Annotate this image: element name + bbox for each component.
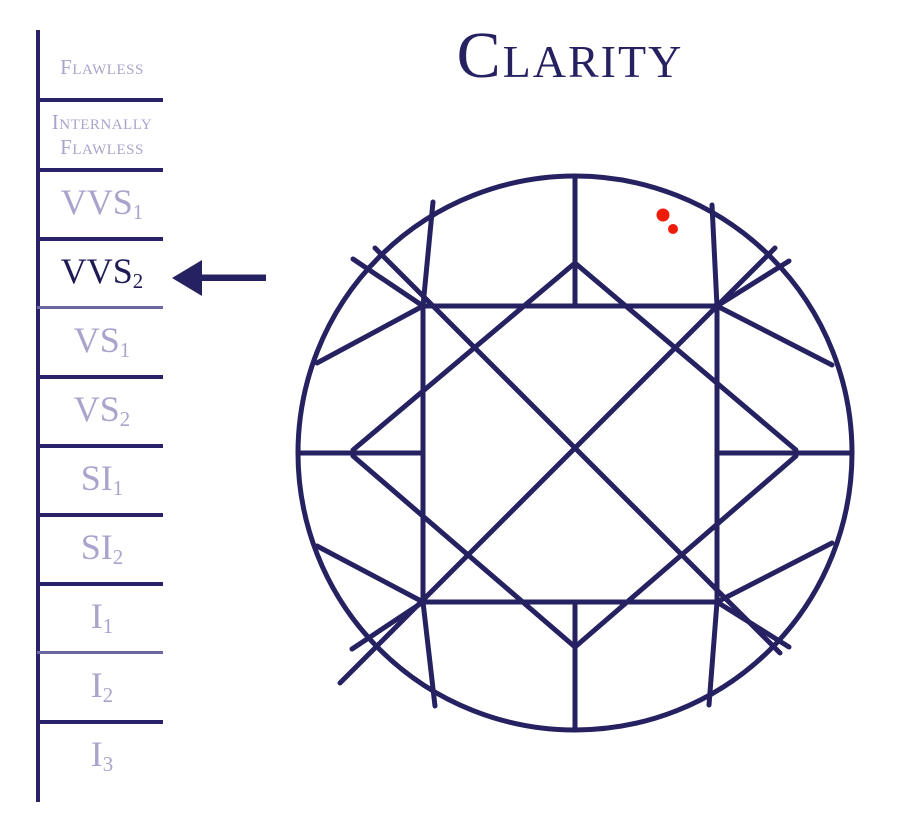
grade-label: Flawless — [60, 55, 144, 79]
grade-row-fl[interactable]: Flawless — [37, 55, 167, 80]
grade-row-vs2[interactable]: VS2 — [37, 389, 167, 434]
grade-label: VVS — [61, 182, 133, 222]
star-edge-ne-b — [712, 205, 717, 306]
grade-row-i3[interactable]: I3 — [37, 734, 167, 779]
grade-label-subscript: 2 — [113, 545, 123, 569]
grade-label-subscript: 3 — [103, 752, 113, 776]
selection-arrow-icon — [168, 252, 278, 304]
upper-girdle-w-bottom — [317, 546, 423, 602]
inclusion-markers — [657, 209, 679, 235]
grade-row-if[interactable]: InternallyFlawless — [37, 110, 167, 160]
grade-label: SI — [81, 527, 113, 567]
grade-label: VS — [74, 320, 120, 360]
star-edge-se-a — [717, 602, 789, 647]
grade-label: SI — [81, 458, 113, 498]
grade-row-si2[interactable]: SI2 — [37, 527, 167, 572]
diamond-facet-lines — [298, 176, 852, 730]
grade-row-vs1[interactable]: VS1 — [37, 320, 167, 365]
page-title: Clarity — [310, 18, 830, 94]
scale-divider-if — [37, 168, 163, 172]
clarity-chart-canvas: Clarity FlawlessInternallyFlawlessVVS1VV… — [0, 0, 900, 825]
grade-label-subscript: 2 — [120, 407, 130, 431]
scale-divider-i2 — [37, 720, 163, 724]
star-edge-sw-a — [352, 602, 423, 649]
scale-divider-vvs1 — [37, 237, 163, 241]
scale-divider-vvs2 — [37, 306, 163, 309]
diamond-illustration — [280, 160, 870, 750]
grade-label-line2: Flawless — [37, 135, 167, 160]
main-crossing-nw — [353, 263, 575, 450]
inclusion-marker-2 — [668, 224, 678, 234]
grade-label-subscript: 1 — [133, 200, 143, 224]
scale-divider-vs2 — [37, 444, 163, 448]
grade-label: VS — [74, 389, 120, 429]
grade-label: VVS — [61, 251, 133, 291]
grade-row-vvs2[interactable]: VVS2 — [37, 251, 167, 296]
grade-label-subscript: 2 — [103, 683, 113, 707]
main-crossing-ne — [575, 263, 796, 450]
scale-divider-vs1 — [37, 375, 163, 379]
clarity-grade-scale: FlawlessInternallyFlawlessVVS1VVS2VS1VS2… — [0, 0, 300, 825]
scale-divider-i1 — [37, 651, 163, 654]
grade-label: I — [91, 596, 103, 636]
grade-label: I — [91, 734, 103, 774]
grade-label-subscript: 1 — [103, 614, 113, 638]
grade-label-subscript: 1 — [113, 476, 123, 500]
grade-label: I — [91, 665, 103, 705]
inclusion-marker-1 — [657, 209, 670, 222]
grade-row-vvs1[interactable]: VVS1 — [37, 182, 167, 227]
scale-divider-fl — [37, 98, 163, 102]
scale-divider-si1 — [37, 513, 163, 517]
grade-row-i2[interactable]: I2 — [37, 665, 167, 710]
grade-row-si1[interactable]: SI1 — [37, 458, 167, 503]
grade-row-i1[interactable]: I1 — [37, 596, 167, 641]
grade-label-subscript: 2 — [133, 269, 143, 293]
scale-divider-si2 — [37, 582, 163, 586]
grade-label-subscript: 1 — [120, 338, 130, 362]
grade-label: Internally — [52, 110, 152, 134]
